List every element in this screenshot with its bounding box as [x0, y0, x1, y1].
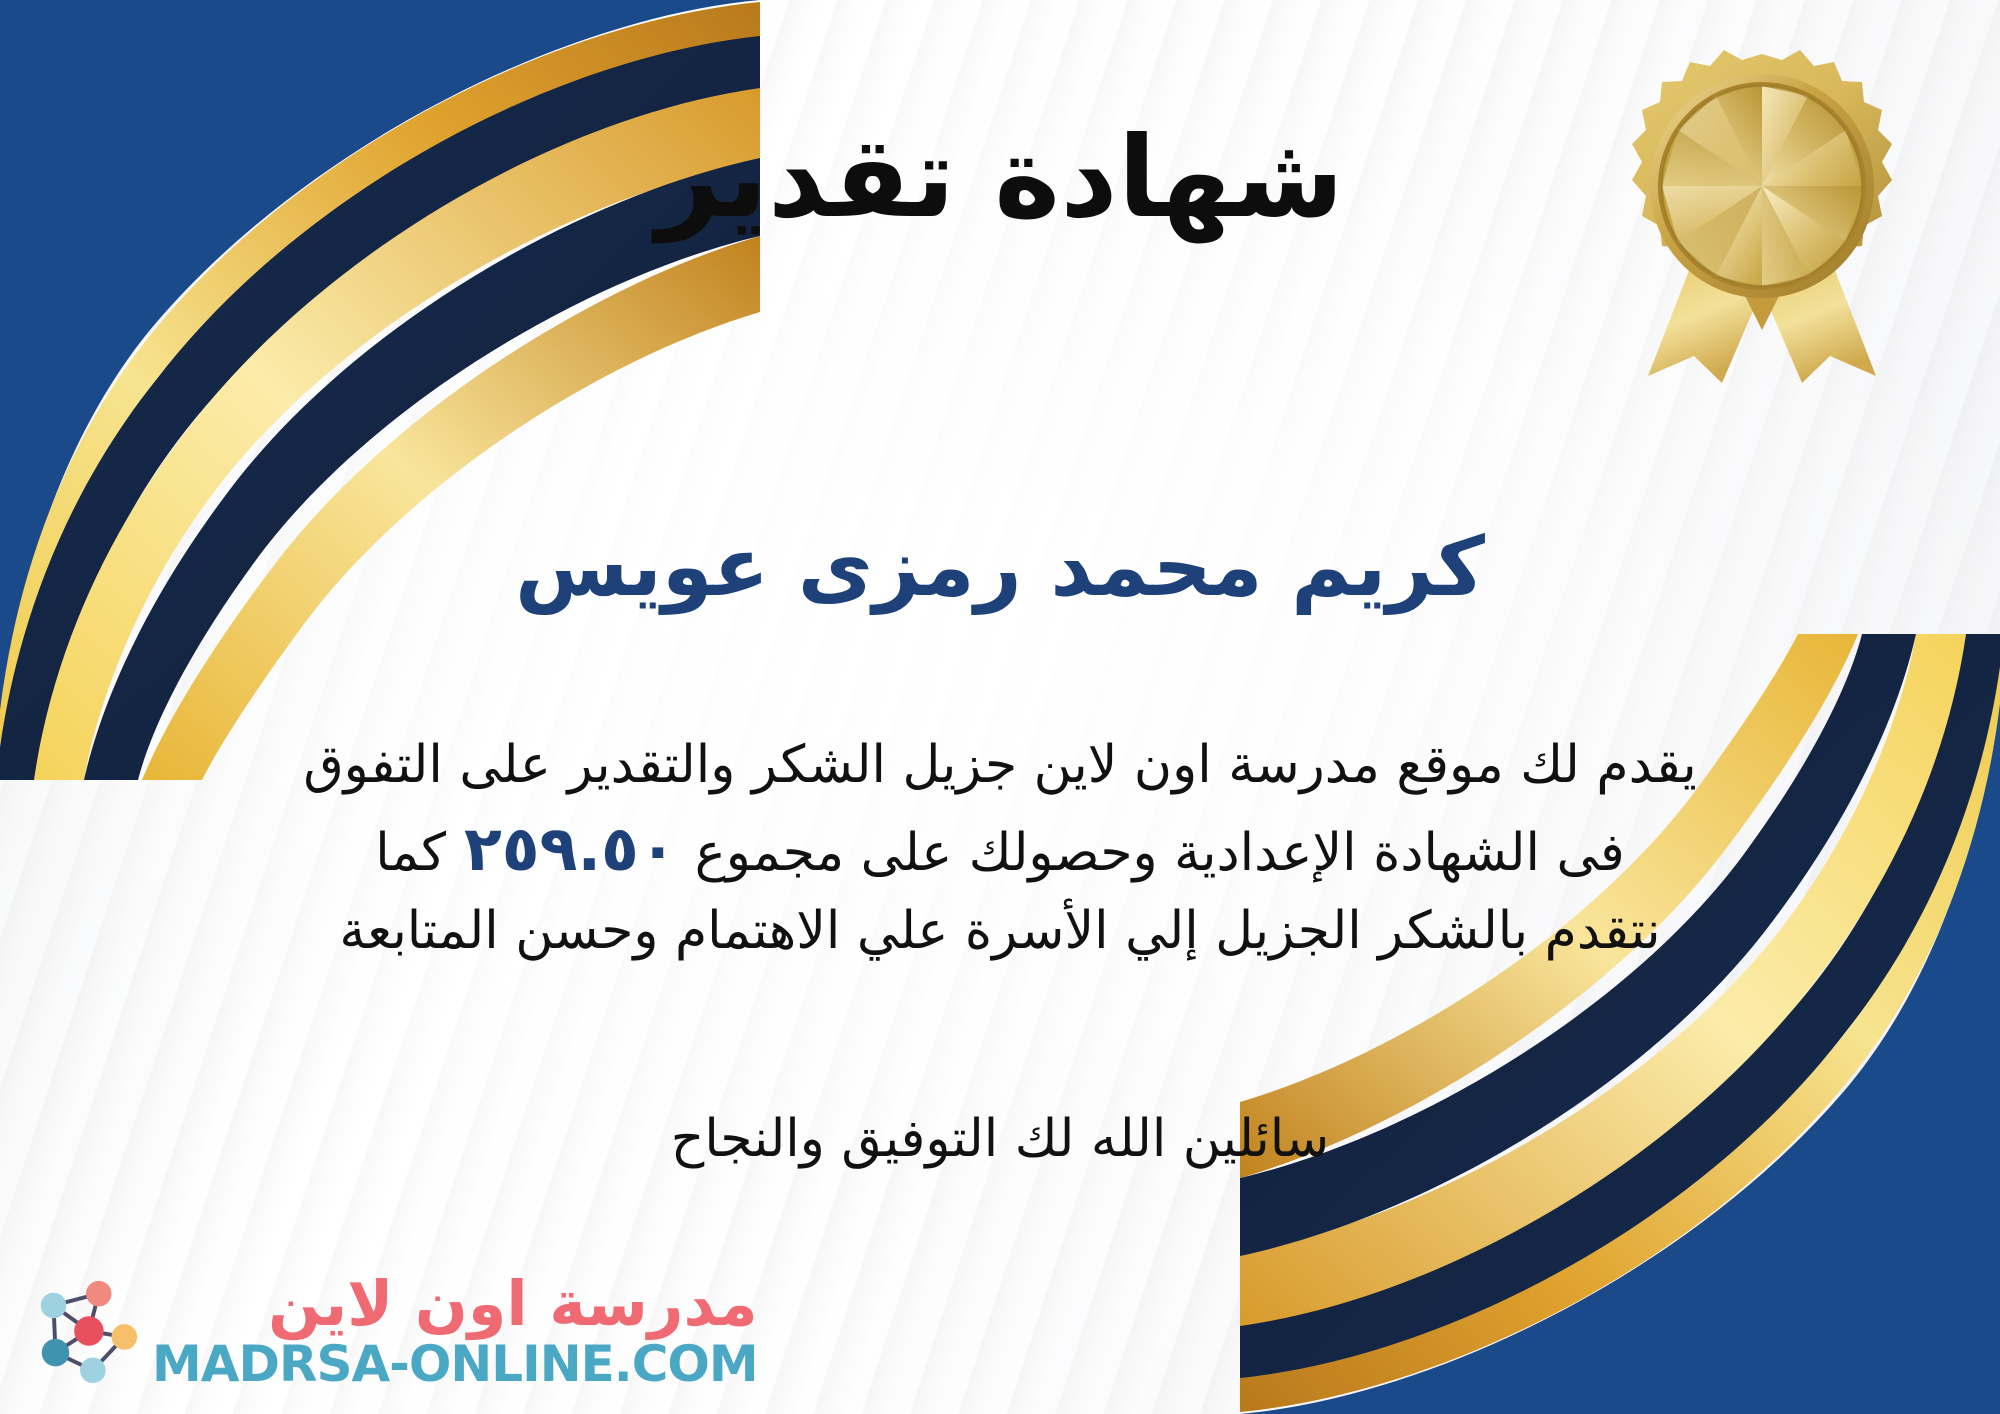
certificate-page: شهادة تقدير كريم محمد رمزى عويس يقدم لك …	[0, 0, 2000, 1414]
certificate-content: شهادة تقدير كريم محمد رمزى عويس يقدم لك …	[0, 0, 2000, 1414]
network-nodes-logo-icon	[26, 1272, 144, 1390]
brand-website: MADRSA-ONLINE.COM	[152, 1339, 758, 1389]
student-name: كريم محمد رمزى عويس	[0, 523, 2000, 613]
closing-wish: سائلين الله لك التوفيق والنجاح	[0, 1103, 2000, 1176]
brand-arabic-name: مدرسة اون لاين	[268, 1273, 758, 1335]
certificate-body: يقدم لك موقع مدرسة اون لاين جزيل الشكر و…	[60, 728, 1940, 970]
page-title: شهادة تقدير	[0, 118, 2000, 239]
grade-total-value: ٢٥٩.٥٠	[446, 812, 695, 885]
body-line-2-prefix: فى الشهادة الإعدادية وحصولك على مجموع	[695, 823, 1625, 883]
brand-logo[interactable]: مدرسة اون لاين MADRSA-ONLINE.COM	[26, 1272, 758, 1390]
body-line-1: يقدم لك موقع مدرسة اون لاين جزيل الشكر و…	[60, 728, 1940, 804]
body-line-2-suffix: كما	[375, 823, 446, 883]
body-line-3: نتقدم بالشكر الجزيل إلي الأسرة علي الاهت…	[60, 894, 1940, 970]
body-line-2: فى الشهادة الإعدادية وحصولك على مجموع٢٥٩…	[60, 804, 1940, 895]
brand-text-block: مدرسة اون لاين MADRSA-ONLINE.COM	[152, 1273, 758, 1389]
